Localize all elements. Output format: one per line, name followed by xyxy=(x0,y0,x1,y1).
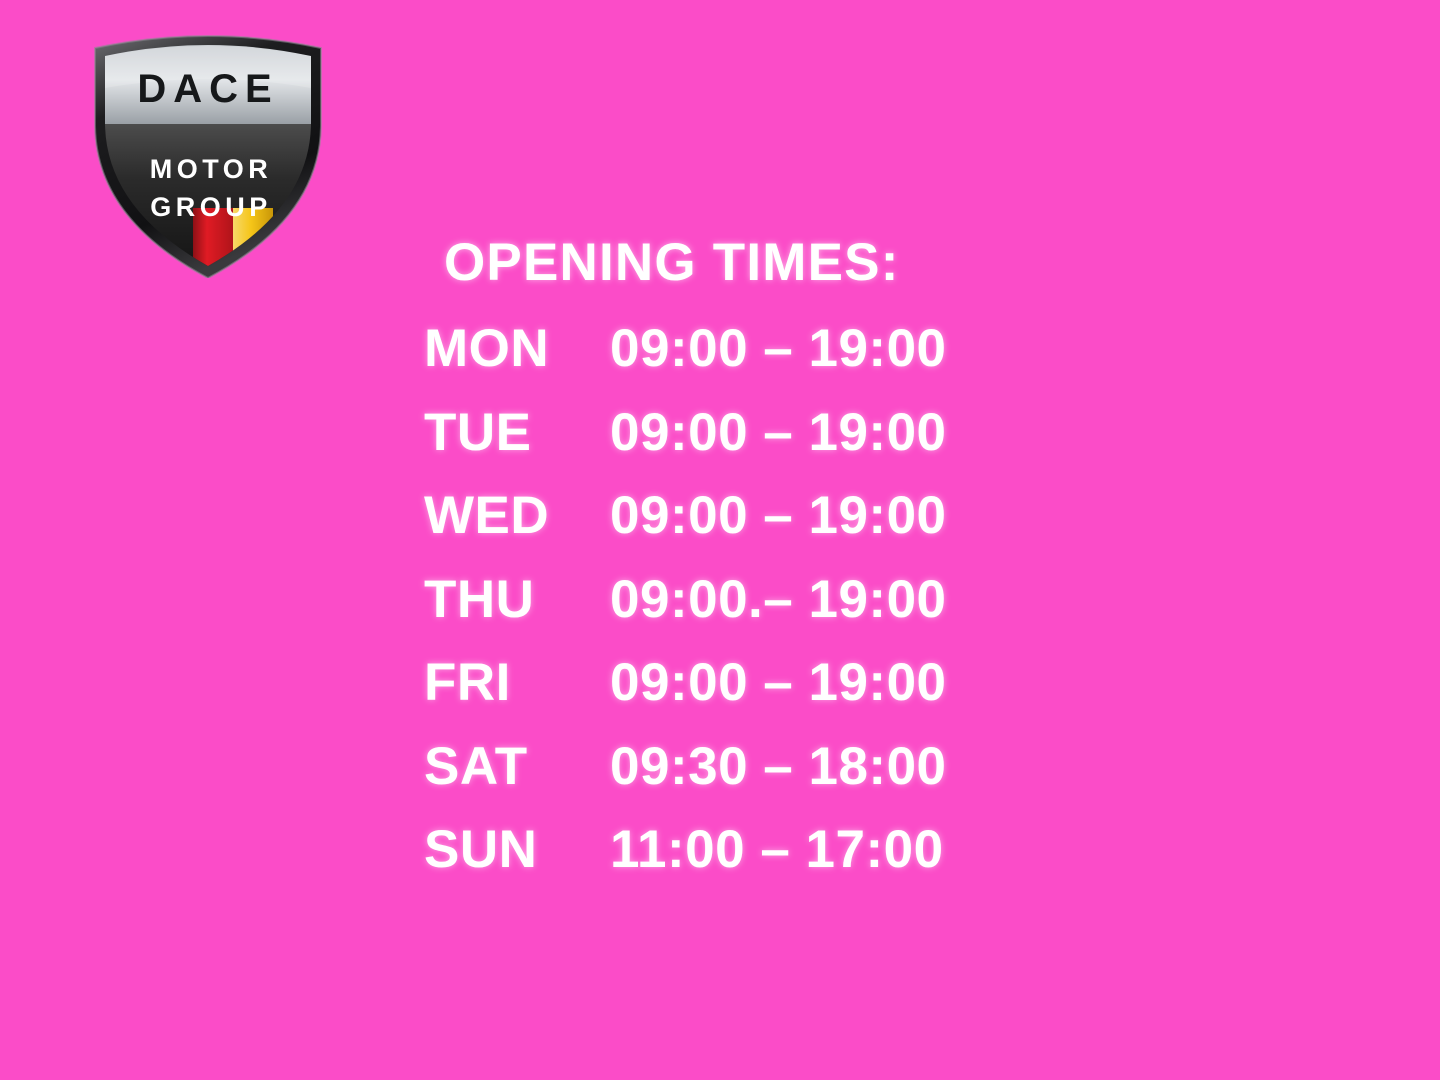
day-label: WED xyxy=(424,485,549,546)
page-title: OPENING TIMES: xyxy=(444,232,900,293)
day-label: SAT xyxy=(424,736,528,797)
schedule-row-tue: TUE 09:00 – 19:00 xyxy=(424,402,1064,486)
schedule-row-wed: WED 09:00 – 19:00 xyxy=(424,485,1064,569)
schedule-row-sat: SAT 09:30 – 18:00 xyxy=(424,736,1064,820)
opening-times-list: MON 09:00 – 19:00 TUE 09:00 – 19:00 WED … xyxy=(424,318,1064,903)
schedule-row-mon: MON 09:00 – 19:00 xyxy=(424,318,1064,402)
hours-value: 09:00 – 19:00 xyxy=(610,652,947,713)
hours-value: 09:00 – 19:00 xyxy=(610,402,947,463)
hours-value: 09:30 – 18:00 xyxy=(610,736,947,797)
hours-value: 09:00 – 19:00 xyxy=(610,318,947,379)
hours-value: 11:00 – 17:00 xyxy=(610,819,944,880)
day-label: THU xyxy=(424,569,534,630)
day-label: SUN xyxy=(424,819,537,880)
hours-value: 09:00.– 19:00 xyxy=(610,569,947,630)
day-label: FRI xyxy=(424,652,511,713)
schedule-row-sun: SUN 11:00 – 17:00 xyxy=(424,819,1064,903)
opening-times-poster: DACE MOTOR GROUP OPENING TIMES: MON 09:0… xyxy=(0,0,1440,1080)
day-label: MON xyxy=(424,318,549,379)
schedule-row-thu: THU 09:00.– 19:00 xyxy=(424,569,1064,653)
poster-content: OPENING TIMES: MON 09:00 – 19:00 TUE 09:… xyxy=(0,0,1440,1080)
day-label: TUE xyxy=(424,402,532,463)
hours-value: 09:00 – 19:00 xyxy=(610,485,947,546)
schedule-row-fri: FRI 09:00 – 19:00 xyxy=(424,652,1064,736)
